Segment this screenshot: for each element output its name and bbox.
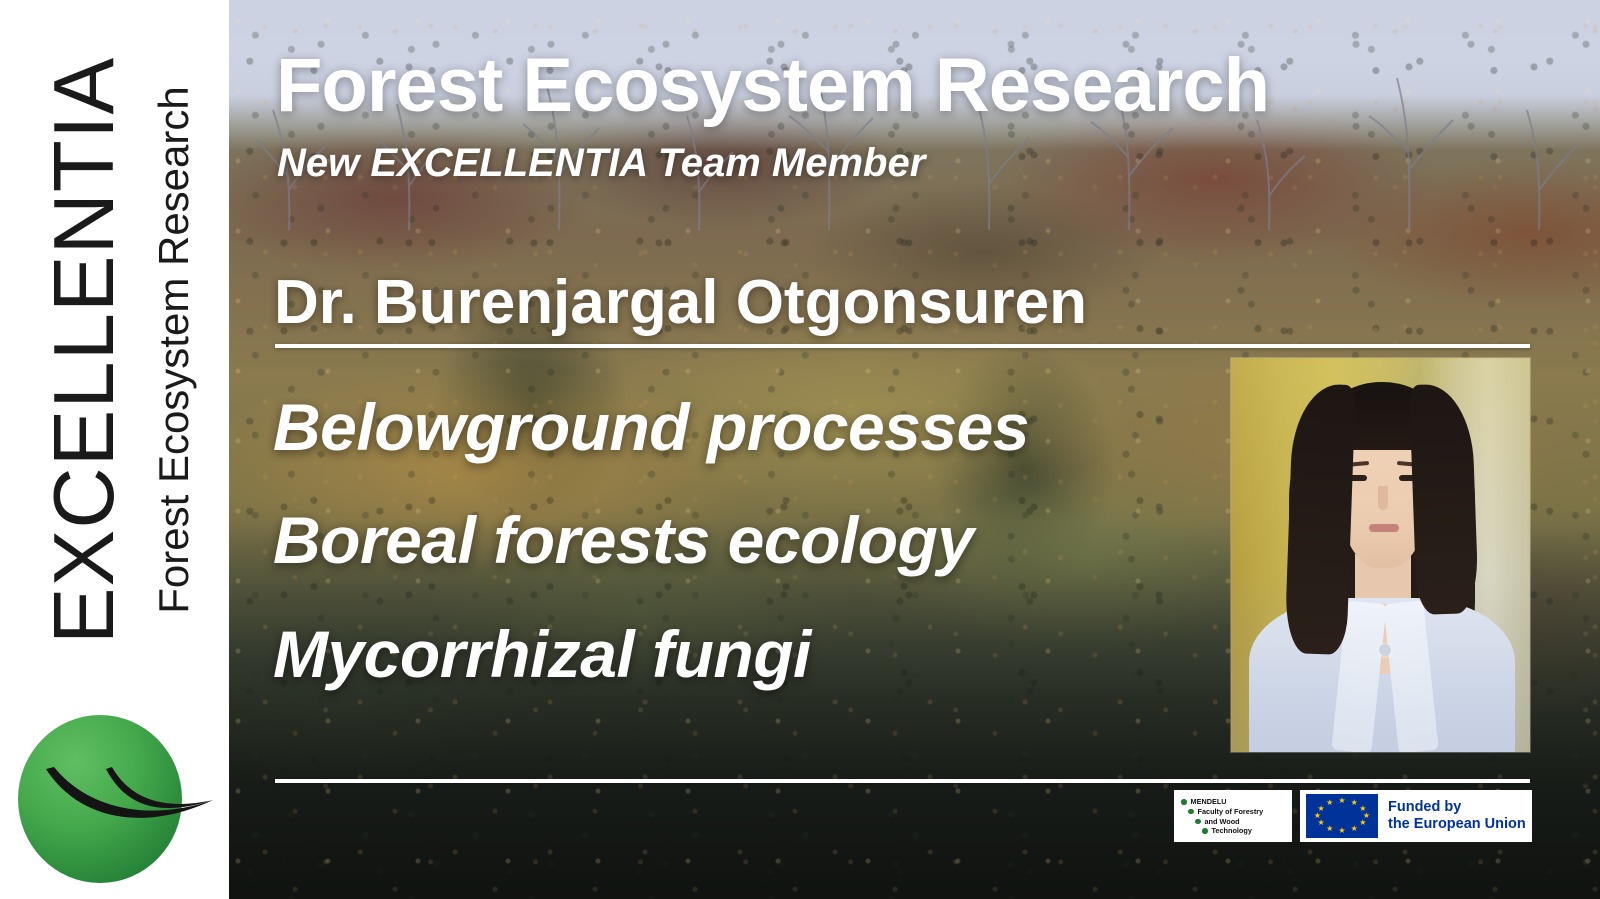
brand-tagline: Forest Ecosystem Research	[153, 86, 195, 614]
bullet-dot-icon	[1188, 809, 1194, 815]
portrait-necklace	[1379, 644, 1391, 656]
person-name: Dr. Burenjargal Otgonsuren	[274, 272, 1087, 334]
person-portrait-photo	[1231, 358, 1530, 752]
mendelu-line: MENDELU	[1181, 797, 1286, 807]
divider-bottom	[275, 779, 1530, 783]
poster-slide: EXCELLENTIA Forest Ecosystem Research	[0, 0, 1600, 899]
research-topic-item: Belowground processes	[273, 392, 1233, 463]
brand-vertical-text-group: EXCELLENTIA Forest Ecosystem Research	[0, 0, 229, 700]
research-topic-item: Mycorrhizal fungi	[273, 619, 1233, 690]
brand-name: EXCELLENTIA	[42, 56, 127, 643]
brand-tagline-column: Forest Ecosystem Research	[144, 0, 204, 700]
mendelu-line: Technology	[1181, 826, 1286, 836]
bullet-dot-icon	[1181, 799, 1187, 805]
mendelu-line-1: MENDELU	[1191, 797, 1227, 807]
eu-funding-text: Funded by the European Union	[1388, 799, 1526, 833]
mendelu-line: and Wood	[1181, 817, 1286, 827]
page-subtitle: New EXCELLENTIA Team Member	[277, 143, 925, 183]
bullet-dot-icon	[1202, 828, 1208, 834]
page-title: Forest Ecosystem Research	[276, 48, 1269, 124]
eu-flag-icon: ★ ★ ★ ★ ★ ★ ★ ★ ★ ★ ★ ★	[1306, 794, 1378, 838]
eu-funding-logo: ★ ★ ★ ★ ★ ★ ★ ★ ★ ★ ★ ★ Funded by the Eu…	[1300, 790, 1532, 842]
eu-text-line-2: the European Union	[1388, 816, 1526, 833]
portrait-mouth	[1369, 524, 1399, 532]
divider-top	[275, 344, 1530, 348]
mendelu-line-2: Faculty of Forestry	[1198, 807, 1264, 817]
mendelu-line-4: Technology	[1212, 826, 1252, 836]
green-leaf-logo-icon	[8, 707, 223, 892]
research-topics-list: Belowground processes Boreal forests eco…	[273, 392, 1233, 690]
eu-text-line-1: Funded by	[1388, 799, 1526, 816]
mendelu-line: Faculty of Forestry	[1181, 807, 1286, 817]
portrait-nose	[1378, 486, 1388, 510]
brand-name-column: EXCELLENTIA	[26, 0, 144, 700]
bullet-dot-icon	[1195, 819, 1201, 825]
mendelu-line-3: and Wood	[1205, 817, 1240, 827]
mendelu-logo: MENDELU Faculty of Forestry and Wood Tec…	[1174, 790, 1292, 842]
main-photo-panel: Forest Ecosystem Research New EXCELLENTI…	[229, 0, 1600, 899]
research-topic-item: Boreal forests ecology	[273, 505, 1233, 576]
funder-logo-row: MENDELU Faculty of Forestry and Wood Tec…	[1174, 790, 1532, 842]
brand-sidebar: EXCELLENTIA Forest Ecosystem Research	[0, 0, 229, 899]
